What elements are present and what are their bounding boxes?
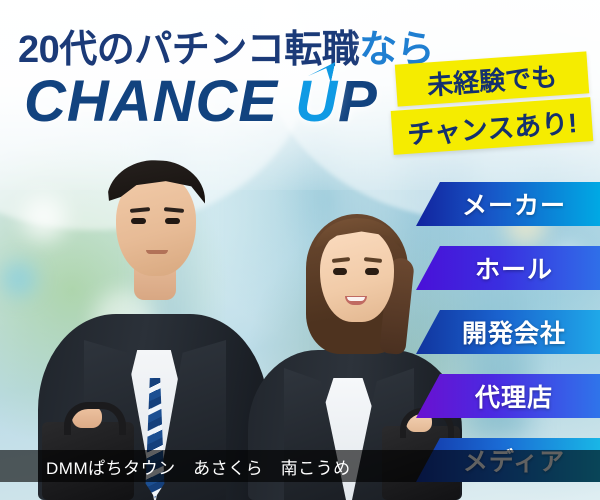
eye: [165, 218, 180, 224]
chance-up-logo: CHANCE UP: [24, 68, 378, 135]
face: [320, 226, 394, 322]
eye: [365, 268, 379, 275]
category-button-hall[interactable]: ホール: [416, 246, 600, 290]
badge-label: 未経験でも: [426, 56, 558, 102]
category-label: ホール: [475, 250, 553, 286]
category-button-agency[interactable]: 代理店: [416, 374, 600, 418]
category-label: 開発会社: [462, 314, 566, 350]
category-label: 代理店: [475, 378, 553, 414]
mouth: [146, 250, 168, 254]
bokeh-light: [2, 262, 36, 296]
badge-label: チャンスあり!: [406, 101, 578, 152]
headline-main: 20代のパチンコ転職: [18, 29, 359, 71]
logo-p-text: P: [338, 69, 378, 134]
category-label: メーカー: [462, 186, 566, 222]
promo-banner: 20代のパチンコ転職なら CHANCE UP 未経験でも チャンスあり! メーカ…: [0, 0, 600, 500]
category-button-maker[interactable]: メーカー: [416, 182, 600, 226]
category-button-development-company[interactable]: 開発会社: [416, 310, 600, 354]
logo-chance-text: CHANCE: [24, 69, 278, 134]
eye: [131, 218, 146, 224]
credit-text: DMMぱちタウン あさくら 南こうめ: [0, 454, 351, 479]
logo-u-letter: U: [295, 68, 338, 135]
credit-bar: DMMぱちタウン あさくら 南こうめ: [0, 450, 600, 482]
hand: [72, 406, 102, 428]
headline: 20代のパチンコ転職なら: [18, 18, 434, 73]
businessman-photo: [38, 158, 268, 500]
eye: [333, 268, 347, 275]
